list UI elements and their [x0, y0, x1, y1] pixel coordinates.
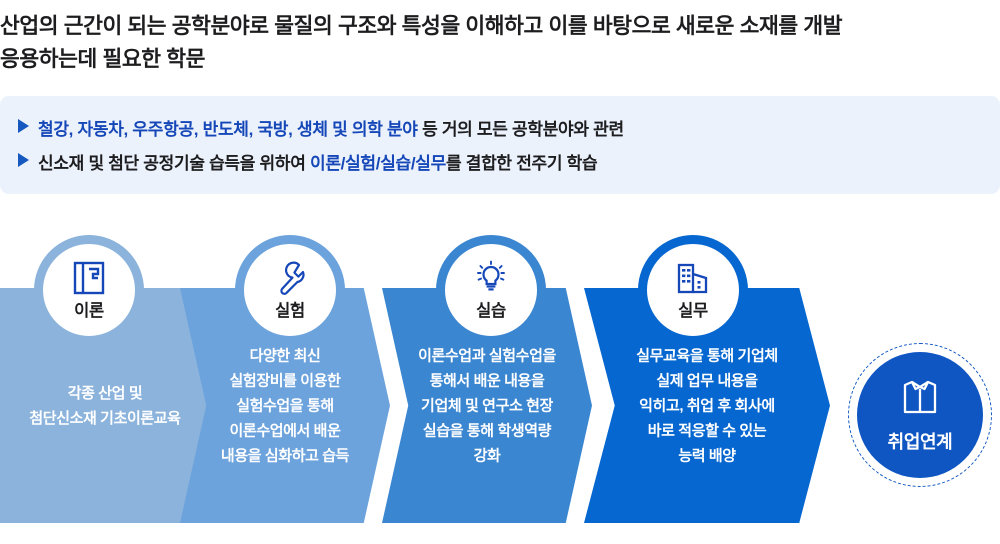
flow-step-4-body: 실무교육을 통해 기업체 실제 업무 내용을 익히고, 취업 후 회사에 바로 … — [584, 343, 830, 468]
info-bullet-2-suffix: 를 결합한 전주기 학습 — [446, 154, 597, 173]
flow-step-3-caption: 실습 — [476, 297, 506, 321]
infographic-root: 산업의 근간이 되는 공학분야로 물질의 구조와 특성을 이해하고 이를 바탕으… — [0, 0, 1000, 544]
lightbulb-icon — [473, 260, 509, 296]
flow-step-2-badge: 실험 — [235, 235, 345, 345]
flow-step-1-caption: 이론 — [74, 297, 104, 321]
triangle-right-icon — [18, 119, 29, 133]
dress-shirt-icon — [899, 377, 941, 422]
info-bullet-row-1: 철강, 자동차, 우주항공, 반도체, 국방, 생체 및 의학 분야 등 거의 … — [18, 115, 624, 140]
info-bullet-2-prefix: 신소재 및 첨단 공정기술 습득을 위하여 — [38, 154, 310, 173]
flow-step-3-badge: 실습 — [436, 235, 546, 345]
info-bullet-2-accent: 이론/실험/실습/실무 — [310, 154, 446, 173]
info-bullet-1-accent: 철강, 자동차, 우주항공, 반도체, 국방, 생체 및 의학 분야 — [38, 120, 418, 139]
info-bullet-row-2-text: 신소재 및 첨단 공정기술 습득을 위하여 이론/실험/실습/실무를 결합한 전… — [38, 149, 597, 174]
flow-step-2-body: 다양한 최신 실험장비를 이용한 실험수업을 통해 이론수업에서 배운 내용을 … — [180, 343, 390, 468]
end-node-circle: 취업연계 — [857, 352, 983, 478]
building-icon — [675, 260, 711, 296]
flow-step-2-caption: 실험 — [275, 297, 305, 321]
flow-step-4-caption: 실무 — [678, 297, 708, 321]
info-bullet-row-2: 신소재 및 첨단 공정기술 습득을 위하여 이론/실험/실습/실무를 결합한 전… — [18, 149, 597, 174]
info-box: 철강, 자동차, 우주항공, 반도체, 국방, 생체 및 의학 분야 등 거의 … — [0, 96, 1000, 194]
triangle-right-icon — [18, 153, 29, 167]
flow-step-3-body: 이론수업과 실험수업을 통해서 배운 내용을 기업체 및 연구소 현장 실습을 … — [382, 343, 592, 468]
flow-step-1-badge: 이론 — [34, 235, 144, 345]
wrench-icon — [273, 260, 307, 296]
end-node: 취업연계 — [848, 343, 992, 487]
flow-step-4-badge: 실무 — [638, 235, 748, 345]
page-title-accent: 산업의 근간이 되는 공학분야 — [0, 14, 249, 38]
page-title: 산업의 근간이 되는 공학분야로 물질의 구조와 특성을 이해하고 이를 바탕으… — [0, 10, 970, 76]
flow-step-1-body: 각종 산업 및 첨단신소재 기초이론교육 — [0, 381, 210, 431]
page-title-line2: 응용하는데 필요한 학문 — [0, 47, 205, 71]
end-node-caption: 취업연계 — [888, 428, 953, 454]
page-title-rest: 로 물질의 구조와 특성을 이해하고 이를 바탕으로 새로운 소재를 개발 — [249, 14, 842, 38]
info-bullet-row-1-text: 철강, 자동차, 우주항공, 반도체, 국방, 생체 및 의학 분야 등 거의 … — [38, 115, 624, 140]
info-bullet-1-plain: 등 거의 모든 공학분야와 관련 — [418, 120, 624, 139]
book-icon — [72, 260, 106, 296]
